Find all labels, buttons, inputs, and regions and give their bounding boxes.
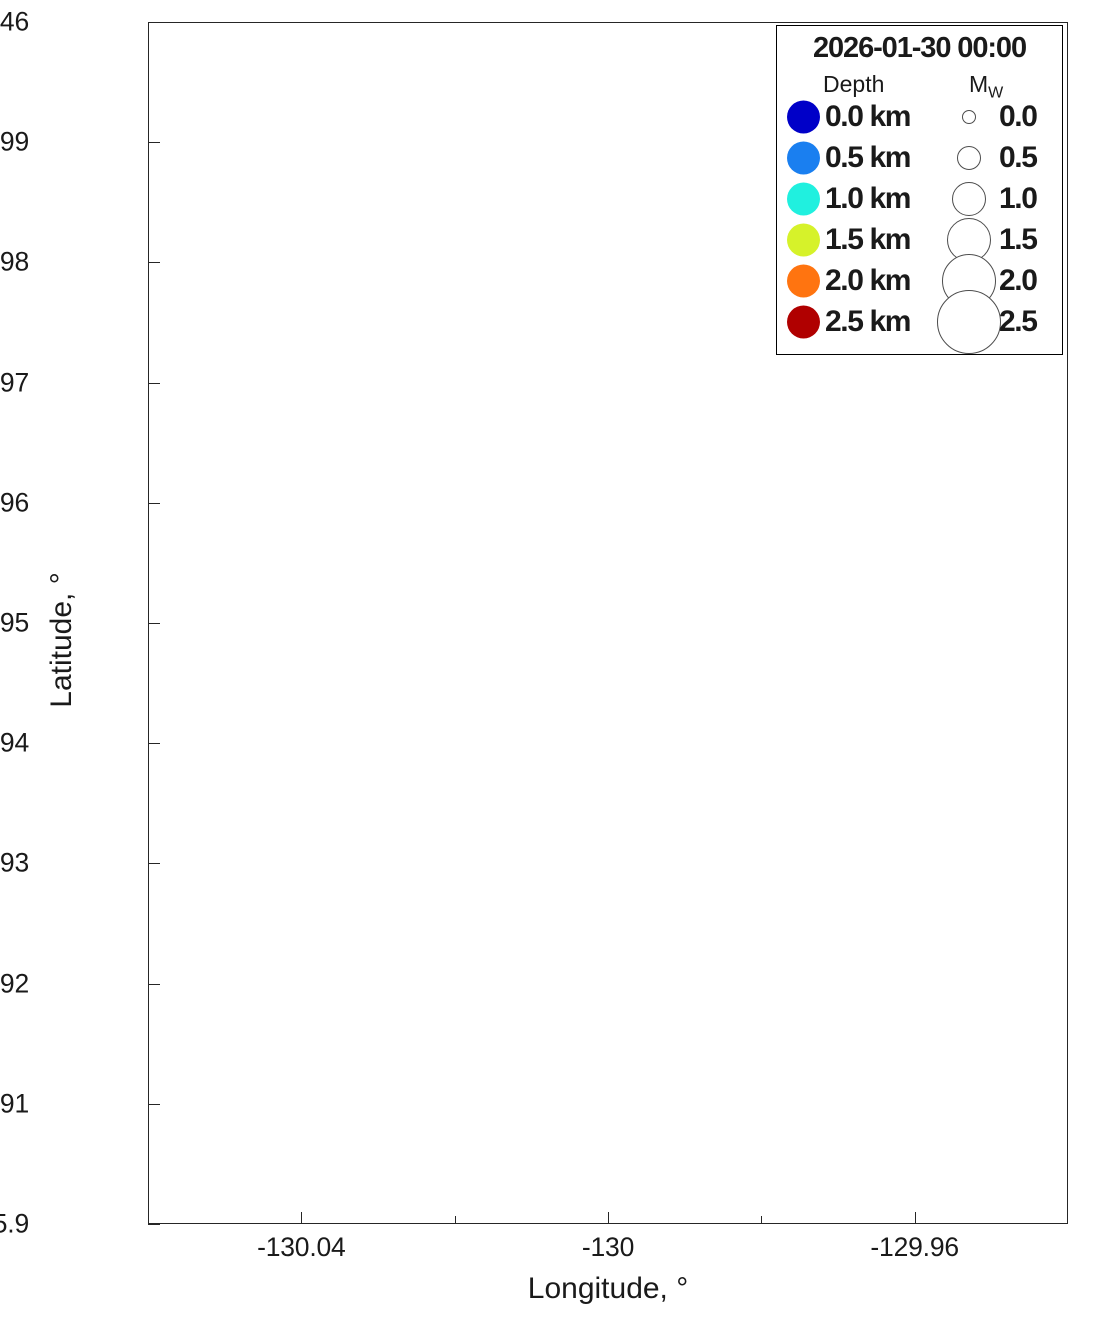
legend-mw-label-3: 1.5 [999,223,1037,257]
x-axis-label: Longitude, ° [528,1272,688,1306]
x-tick-label-0: -130.04 [257,1232,345,1263]
y-tick-label-2: 45.98 [0,247,29,278]
y-tick-label-10: 45.9 [0,1209,29,1240]
legend-depth-label-3: 1.5 km [825,223,910,257]
legend-depth-row-4: 2.0 km [783,262,943,300]
map-legend: 2026-01-30 00:00 Depth MW 0.0 km0.5 km1.… [776,25,1063,355]
legend-depth-swatch-1 [787,142,820,175]
legend-mw-row-0: 0.0 [947,98,1065,136]
legend-mw-row-2: 1.0 [947,180,1065,218]
legend-mw-row-1: 0.5 [947,139,1065,177]
legend-depth-header: Depth [823,71,884,98]
y-tick-mark-1 [148,142,160,143]
y-tick-mark-0 [148,22,160,23]
legend-depth-swatch-5 [787,306,820,339]
x-minor-tick-1 [455,1216,456,1224]
legend-depth-label-0: 0.0 km [825,100,910,134]
y-tick-mark-6 [148,743,160,744]
y-tick-mark-8 [148,984,160,985]
y-tick-mark-5 [148,623,160,624]
legend-depth-label-2: 1.0 km [825,182,910,216]
legend-mw-label-1: 0.5 [999,141,1037,175]
y-tick-label-6: 45.94 [0,728,29,759]
x-tick-mark-1 [608,1212,609,1224]
x-tick-label-1: -130 [582,1232,634,1263]
y-tick-mark-3 [148,383,160,384]
x-tick-label-2: -129.96 [870,1232,958,1263]
y-tick-label-9: 45.91 [0,1088,29,1119]
y-tick-mark-2 [148,262,160,263]
legend-mw-label-5: 2.5 [999,305,1037,339]
legend-mw-circle-5 [937,290,1001,354]
y-tick-label-8: 45.92 [0,968,29,999]
legend-depth-swatch-2 [787,183,820,216]
legend-depth-label-5: 2.5 km [825,305,910,339]
legend-depth-row-2: 1.0 km [783,180,943,218]
y-tick-mark-7 [148,863,160,864]
legend-mw-label-0: 0.0 [999,100,1037,134]
y-tick-mark-4 [148,503,160,504]
x-minor-tick-0 [148,1216,149,1224]
legend-depth-row-3: 1.5 km [783,221,943,259]
y-tick-label-0: 46 [0,7,29,38]
legend-mw-label-2: 1.0 [999,182,1037,216]
y-tick-label-4: 45.96 [0,487,29,518]
legend-depth-label-1: 0.5 km [825,141,910,175]
legend-mw-row-5: 2.5 [947,303,1065,341]
x-tick-mark-2 [915,1212,916,1224]
legend-mw-circle-2 [952,182,986,216]
seismicity-map-figure: 4645.9945.9845.9745.9645.9545.9445.9345.… [0,0,1111,1324]
y-tick-label-3: 45.97 [0,367,29,398]
y-tick-label-7: 45.93 [0,848,29,879]
x-tick-mark-0 [301,1212,302,1224]
y-axis-label: Latitude, ° [45,490,79,790]
y-tick-label-5: 45.95 [0,608,29,639]
legend-depth-row-5: 2.5 km [783,303,943,341]
legend-depth-swatch-0 [787,101,820,134]
legend-depth-label-4: 2.0 km [825,264,910,298]
legend-depth-row-1: 0.5 km [783,139,943,177]
legend-depth-swatch-3 [787,224,820,257]
mw-letter: M [969,71,988,97]
legend-depth-row-0: 0.0 km [783,98,943,136]
y-tick-mark-10 [148,1224,160,1225]
y-tick-mark-9 [148,1104,160,1105]
y-tick-label-1: 45.99 [0,127,29,158]
legend-mw-circle-1 [957,146,981,170]
legend-mw-circle-0 [962,110,976,124]
legend-timestamp: 2026-01-30 00:00 [777,32,1062,65]
legend-depth-swatch-4 [787,265,820,298]
x-minor-tick-2 [761,1216,762,1224]
legend-mw-label-4: 2.0 [999,264,1037,298]
